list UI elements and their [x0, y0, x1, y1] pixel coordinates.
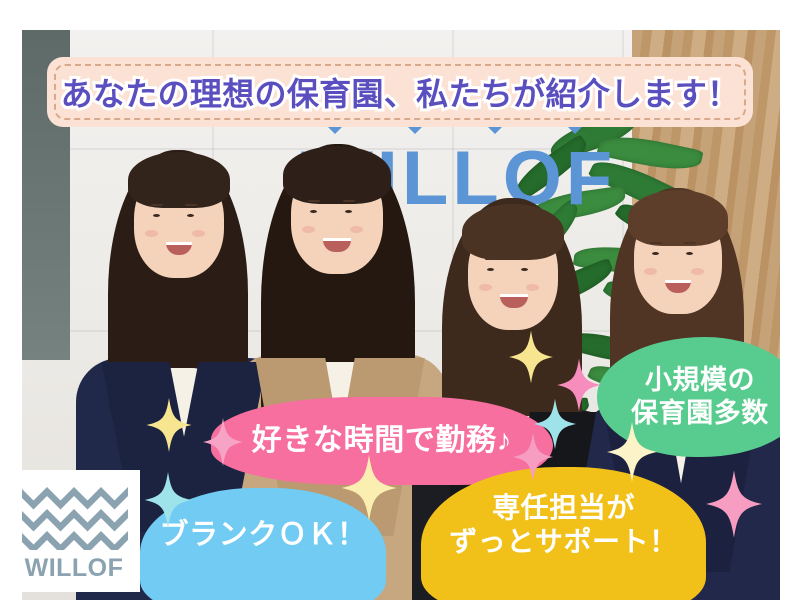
bubble-yellow-line1: 専任担当が [492, 492, 635, 523]
headline-banner: あなたの理想の保育園、私たちが紹介します！ [47, 57, 753, 127]
sparkle-pink-right [513, 432, 553, 482]
top-margin [0, 0, 800, 30]
sparkle-yellow-mid [509, 330, 553, 384]
willof-logo: WILLOF [8, 470, 140, 592]
bubble-yellow: 専任担当が ずっとサポート！ [421, 467, 706, 600]
bubble-green-line1: 小規模の [645, 365, 755, 395]
advertisement-banner: WILLOF [0, 0, 800, 600]
sparkle-cyan-left [143, 472, 193, 528]
sparkle-pink-left [203, 418, 243, 466]
headline-text: あなたの理想の保育園、私たちが紹介します！ [61, 69, 740, 115]
left-margin [0, 0, 22, 600]
bubble-yellow-line2: ずっとサポート！ [449, 526, 677, 557]
right-margin [780, 0, 800, 600]
sparkle-yellow-right [607, 422, 657, 482]
willof-wordmark: WILLOF [18, 554, 130, 583]
sparkle-pink-far-right [706, 470, 762, 538]
sparkle-yellow-center [341, 455, 397, 521]
bubble-pink-text: 好きな時間で勤務♪ [252, 423, 512, 460]
sparkle-yellow-left [146, 398, 192, 452]
willof-zigzag-icon [19, 484, 129, 550]
